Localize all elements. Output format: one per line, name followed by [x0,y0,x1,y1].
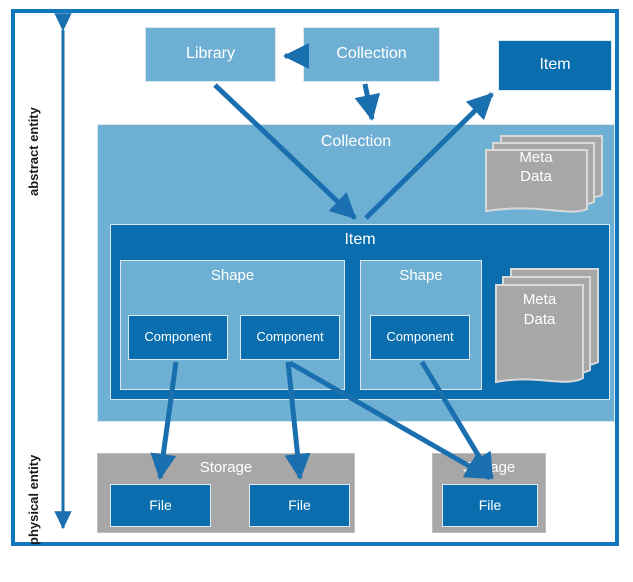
box-component-1-1[interactable]: Component [128,315,228,360]
metadata-stack-collection[interactable] [484,133,606,217]
box-library[interactable]: Library [145,27,276,82]
metadata-stack-item[interactable] [494,266,602,390]
box-file-1-1[interactable]: File [110,484,211,527]
box-file-1-2[interactable]: File [249,484,350,527]
box-collection-top[interactable]: Collection [303,27,440,82]
axis-label-physical-entity: physical entity [26,395,41,545]
box-file-2-1[interactable]: File [442,484,538,527]
box-item-top[interactable]: Item [498,40,612,91]
box-component-2-1[interactable]: Component [370,315,470,360]
diagram-canvas: abstract entity physical entity Library … [0,0,633,582]
box-component-1-2[interactable]: Component [240,315,340,360]
axis-label-abstract-entity: abstract entity [26,36,41,196]
